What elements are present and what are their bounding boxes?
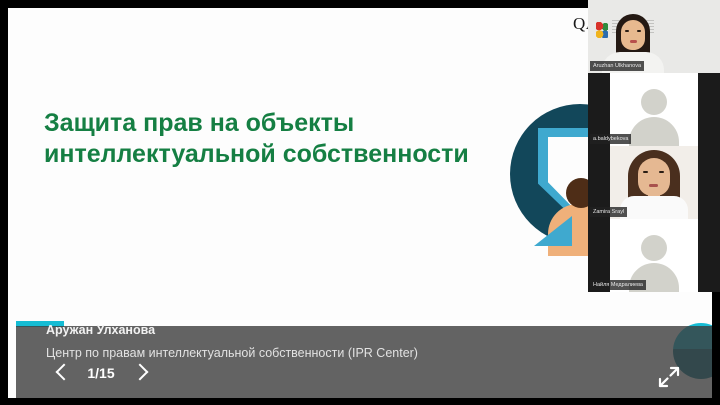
person-jacket (620, 196, 688, 219)
participant-name: Aruzhan Ulkhanova (590, 61, 644, 71)
person-lips (630, 40, 637, 43)
slide-title: Защита прав на объекты интеллектуальной … (44, 108, 474, 170)
participant-name: a.baldybekova (590, 134, 631, 144)
participant-tile[interactable]: a.baldybekova (588, 73, 720, 146)
slide-navigation: 1/15 (56, 362, 146, 384)
participant-tile[interactable]: Aruzhan Ulkhanova (588, 0, 720, 73)
next-slide-button[interactable] (132, 362, 146, 384)
participant-tile[interactable]: Zamira Srayl (588, 146, 720, 219)
wall-logo-icon (596, 22, 608, 38)
participant-tile[interactable]: Найля Медралиева (588, 219, 720, 292)
participant-name: Найля Медралиева (590, 280, 646, 290)
page-indicator: 1/15 (84, 365, 118, 381)
fullscreen-icon[interactable] (656, 364, 682, 390)
presenter-name: Аружан Улханова (46, 323, 155, 337)
person-face (638, 158, 670, 196)
person-lips (649, 184, 658, 187)
player-control-bar: Аружан Улханова Центр по правам интеллек… (16, 326, 712, 398)
video-participant-rail[interactable]: Aruzhan Ulkhanova a.baldybekova (588, 0, 720, 292)
presenter-organization: Центр по правам интеллектуальной собстве… (46, 346, 418, 360)
avatar-head-icon (641, 89, 667, 115)
participant-name: Zamira Srayl (590, 207, 627, 217)
person-face (621, 20, 645, 50)
person-eye-right (637, 30, 641, 32)
avatar-body-icon (629, 117, 679, 146)
avatar-head-icon (641, 235, 667, 261)
person-eye-left (625, 30, 629, 32)
screen: QA Защита прав на объекты интеллектуальн… (0, 0, 720, 405)
person-eye-right (659, 171, 664, 173)
person-eye-left (643, 171, 648, 173)
prev-slide-button[interactable] (56, 362, 70, 384)
